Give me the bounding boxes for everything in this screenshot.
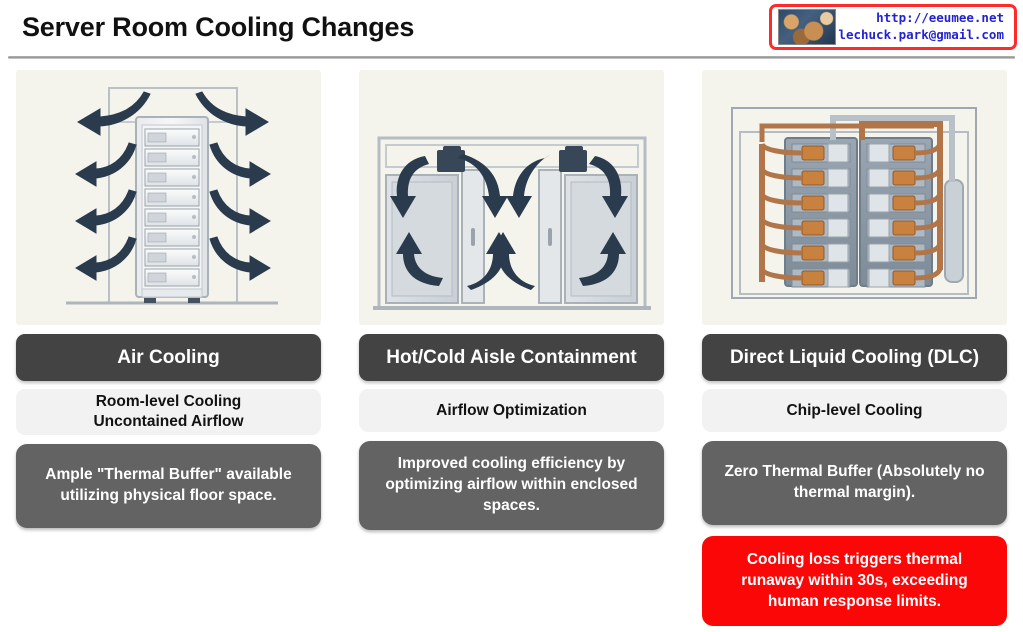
column-description-hot-cold-aisle: Improved cooling efficiency by optimizin… xyxy=(359,441,664,530)
alert-text: Cooling loss triggers thermal runaway wi… xyxy=(714,549,995,613)
column-subtitle-air-cooling: Room-level Cooling Uncontained Airflow xyxy=(16,389,321,435)
column-description-air-cooling: Ample "Thermal Buffer" available utilizi… xyxy=(16,444,321,528)
subtitle-line: Chip-level Cooling xyxy=(786,401,922,421)
column-subtitle-hot-cold-aisle: Airflow Optimization xyxy=(359,389,664,432)
direct-liquid-cooling-coldplate-piping-illustration xyxy=(702,70,1007,325)
column-air-cooling: Air Cooling Room-level Cooling Uncontain… xyxy=(16,70,321,626)
thermal-runaway-alert: Cooling loss triggers thermal runaway wi… xyxy=(702,536,1007,626)
description-text: Ample "Thermal Buffer" available utilizi… xyxy=(28,465,309,507)
comparison-columns: Air Cooling Room-level Cooling Uncontain… xyxy=(0,70,1023,626)
subtitle-line: Airflow Optimization xyxy=(436,401,587,421)
server-rack-outward-airflow-illustration xyxy=(16,70,321,325)
aisle-containment-doors-circulating-airflow-illustration xyxy=(359,70,664,325)
column-direct-liquid-cooling: Direct Liquid Cooling (DLC) Chip-level C… xyxy=(702,70,1007,626)
subtitle-line: Uncontained Airflow xyxy=(93,412,243,432)
description-text: Improved cooling efficiency by optimizin… xyxy=(371,454,652,517)
title-divider xyxy=(8,56,1015,59)
photo-thumbnail-icon xyxy=(778,9,836,45)
column-title-hot-cold-aisle: Hot/Cold Aisle Containment xyxy=(359,334,664,381)
watermark-url: http://eeumee.net xyxy=(836,10,1004,27)
watermark-text: http://eeumee.net lechuck.park@gmail.com xyxy=(836,10,1008,44)
column-title-direct-liquid-cooling: Direct Liquid Cooling (DLC) xyxy=(702,334,1007,381)
column-hot-cold-aisle-containment: Hot/Cold Aisle Containment Airflow Optim… xyxy=(359,70,664,626)
column-subtitle-direct-liquid-cooling: Chip-level Cooling xyxy=(702,389,1007,432)
subtitle-line: Room-level Cooling xyxy=(96,392,242,412)
page-title: Server Room Cooling Changes xyxy=(22,12,414,43)
column-description-direct-liquid-cooling: Zero Thermal Buffer (Absolutely no therm… xyxy=(702,441,1007,525)
watermark-email: lechuck.park@gmail.com xyxy=(836,27,1004,44)
column-title-air-cooling: Air Cooling xyxy=(16,334,321,381)
watermark-badge: http://eeumee.net lechuck.park@gmail.com xyxy=(769,4,1017,50)
description-text: Zero Thermal Buffer (Absolutely no therm… xyxy=(714,462,995,504)
